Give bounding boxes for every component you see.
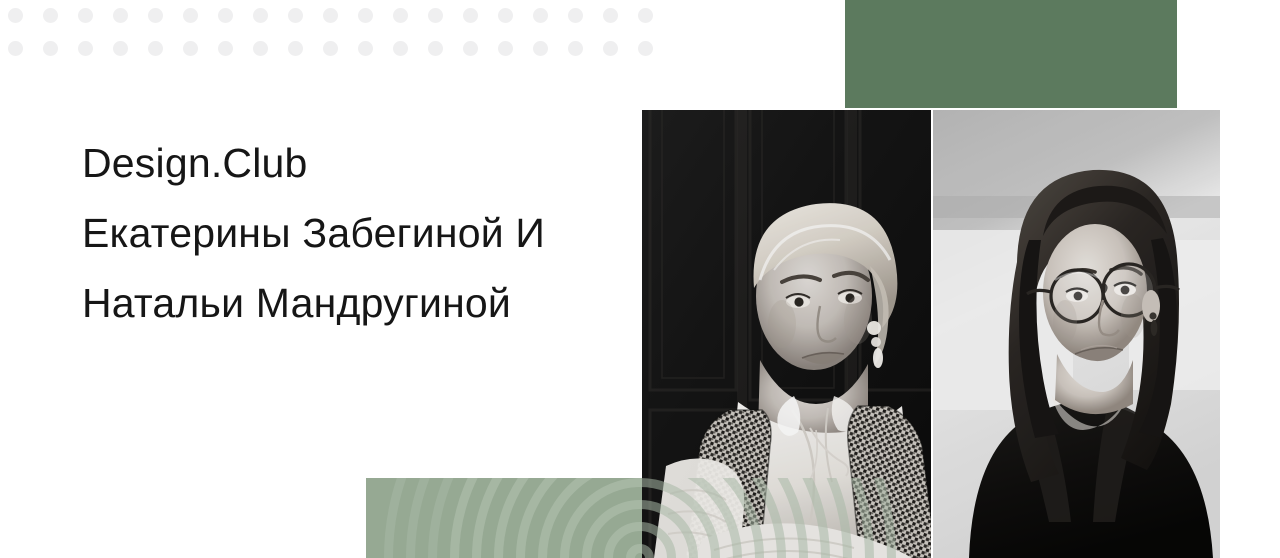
- headline-line-1: Design.Club: [82, 128, 642, 198]
- grid-dot: [533, 41, 548, 56]
- grid-dot: [463, 41, 478, 56]
- hero-banner: Design.Club Екатерины Забегиной И Наталь…: [0, 0, 1280, 558]
- grid-dot: [183, 41, 198, 56]
- green-rectangle-top-right: [845, 0, 1177, 108]
- headline-line-3: Натальи Мандругиной: [82, 268, 642, 338]
- portrait-left-image: [642, 110, 931, 558]
- grid-dot: [638, 8, 653, 23]
- grid-dot: [183, 8, 198, 23]
- grid-dot: [498, 8, 513, 23]
- grid-dot: [533, 8, 548, 23]
- grid-dot: [603, 41, 618, 56]
- grid-dot: [78, 41, 93, 56]
- grid-dot: [288, 8, 303, 23]
- grid-dot: [358, 41, 373, 56]
- grid-dot: [568, 8, 583, 23]
- grid-dot: [8, 41, 23, 56]
- grid-dot: [568, 41, 583, 56]
- grid-dot: [358, 8, 373, 23]
- grid-dot: [498, 41, 513, 56]
- dot-grid-decoration: [0, 0, 660, 66]
- grid-dot: [288, 41, 303, 56]
- grid-dot: [113, 41, 128, 56]
- grid-dot: [8, 8, 23, 23]
- grid-dot: [603, 8, 618, 23]
- grid-dot: [218, 41, 233, 56]
- grid-dot: [428, 8, 443, 23]
- portrait-right: [933, 110, 1220, 558]
- grid-dot: [393, 41, 408, 56]
- grid-dot: [148, 8, 163, 23]
- grid-dot: [323, 41, 338, 56]
- grid-dot: [43, 41, 58, 56]
- dot-row: [0, 41, 660, 57]
- page-title: Design.Club Екатерины Забегиной И Наталь…: [82, 128, 642, 338]
- grid-dot: [323, 8, 338, 23]
- grid-dot: [428, 41, 443, 56]
- grid-dot: [43, 8, 58, 23]
- grid-dot: [393, 8, 408, 23]
- grid-dot: [78, 8, 93, 23]
- grid-dot: [463, 8, 478, 23]
- headline-line-2: Екатерины Забегиной И: [82, 198, 642, 268]
- portrait-right-image: [933, 110, 1220, 558]
- grid-dot: [218, 8, 233, 23]
- grid-dot: [113, 8, 128, 23]
- portrait-left: [642, 110, 931, 558]
- grid-dot: [253, 8, 268, 23]
- grid-dot: [148, 41, 163, 56]
- grid-dot: [253, 41, 268, 56]
- grid-dot: [638, 41, 653, 56]
- dot-row: [0, 8, 660, 24]
